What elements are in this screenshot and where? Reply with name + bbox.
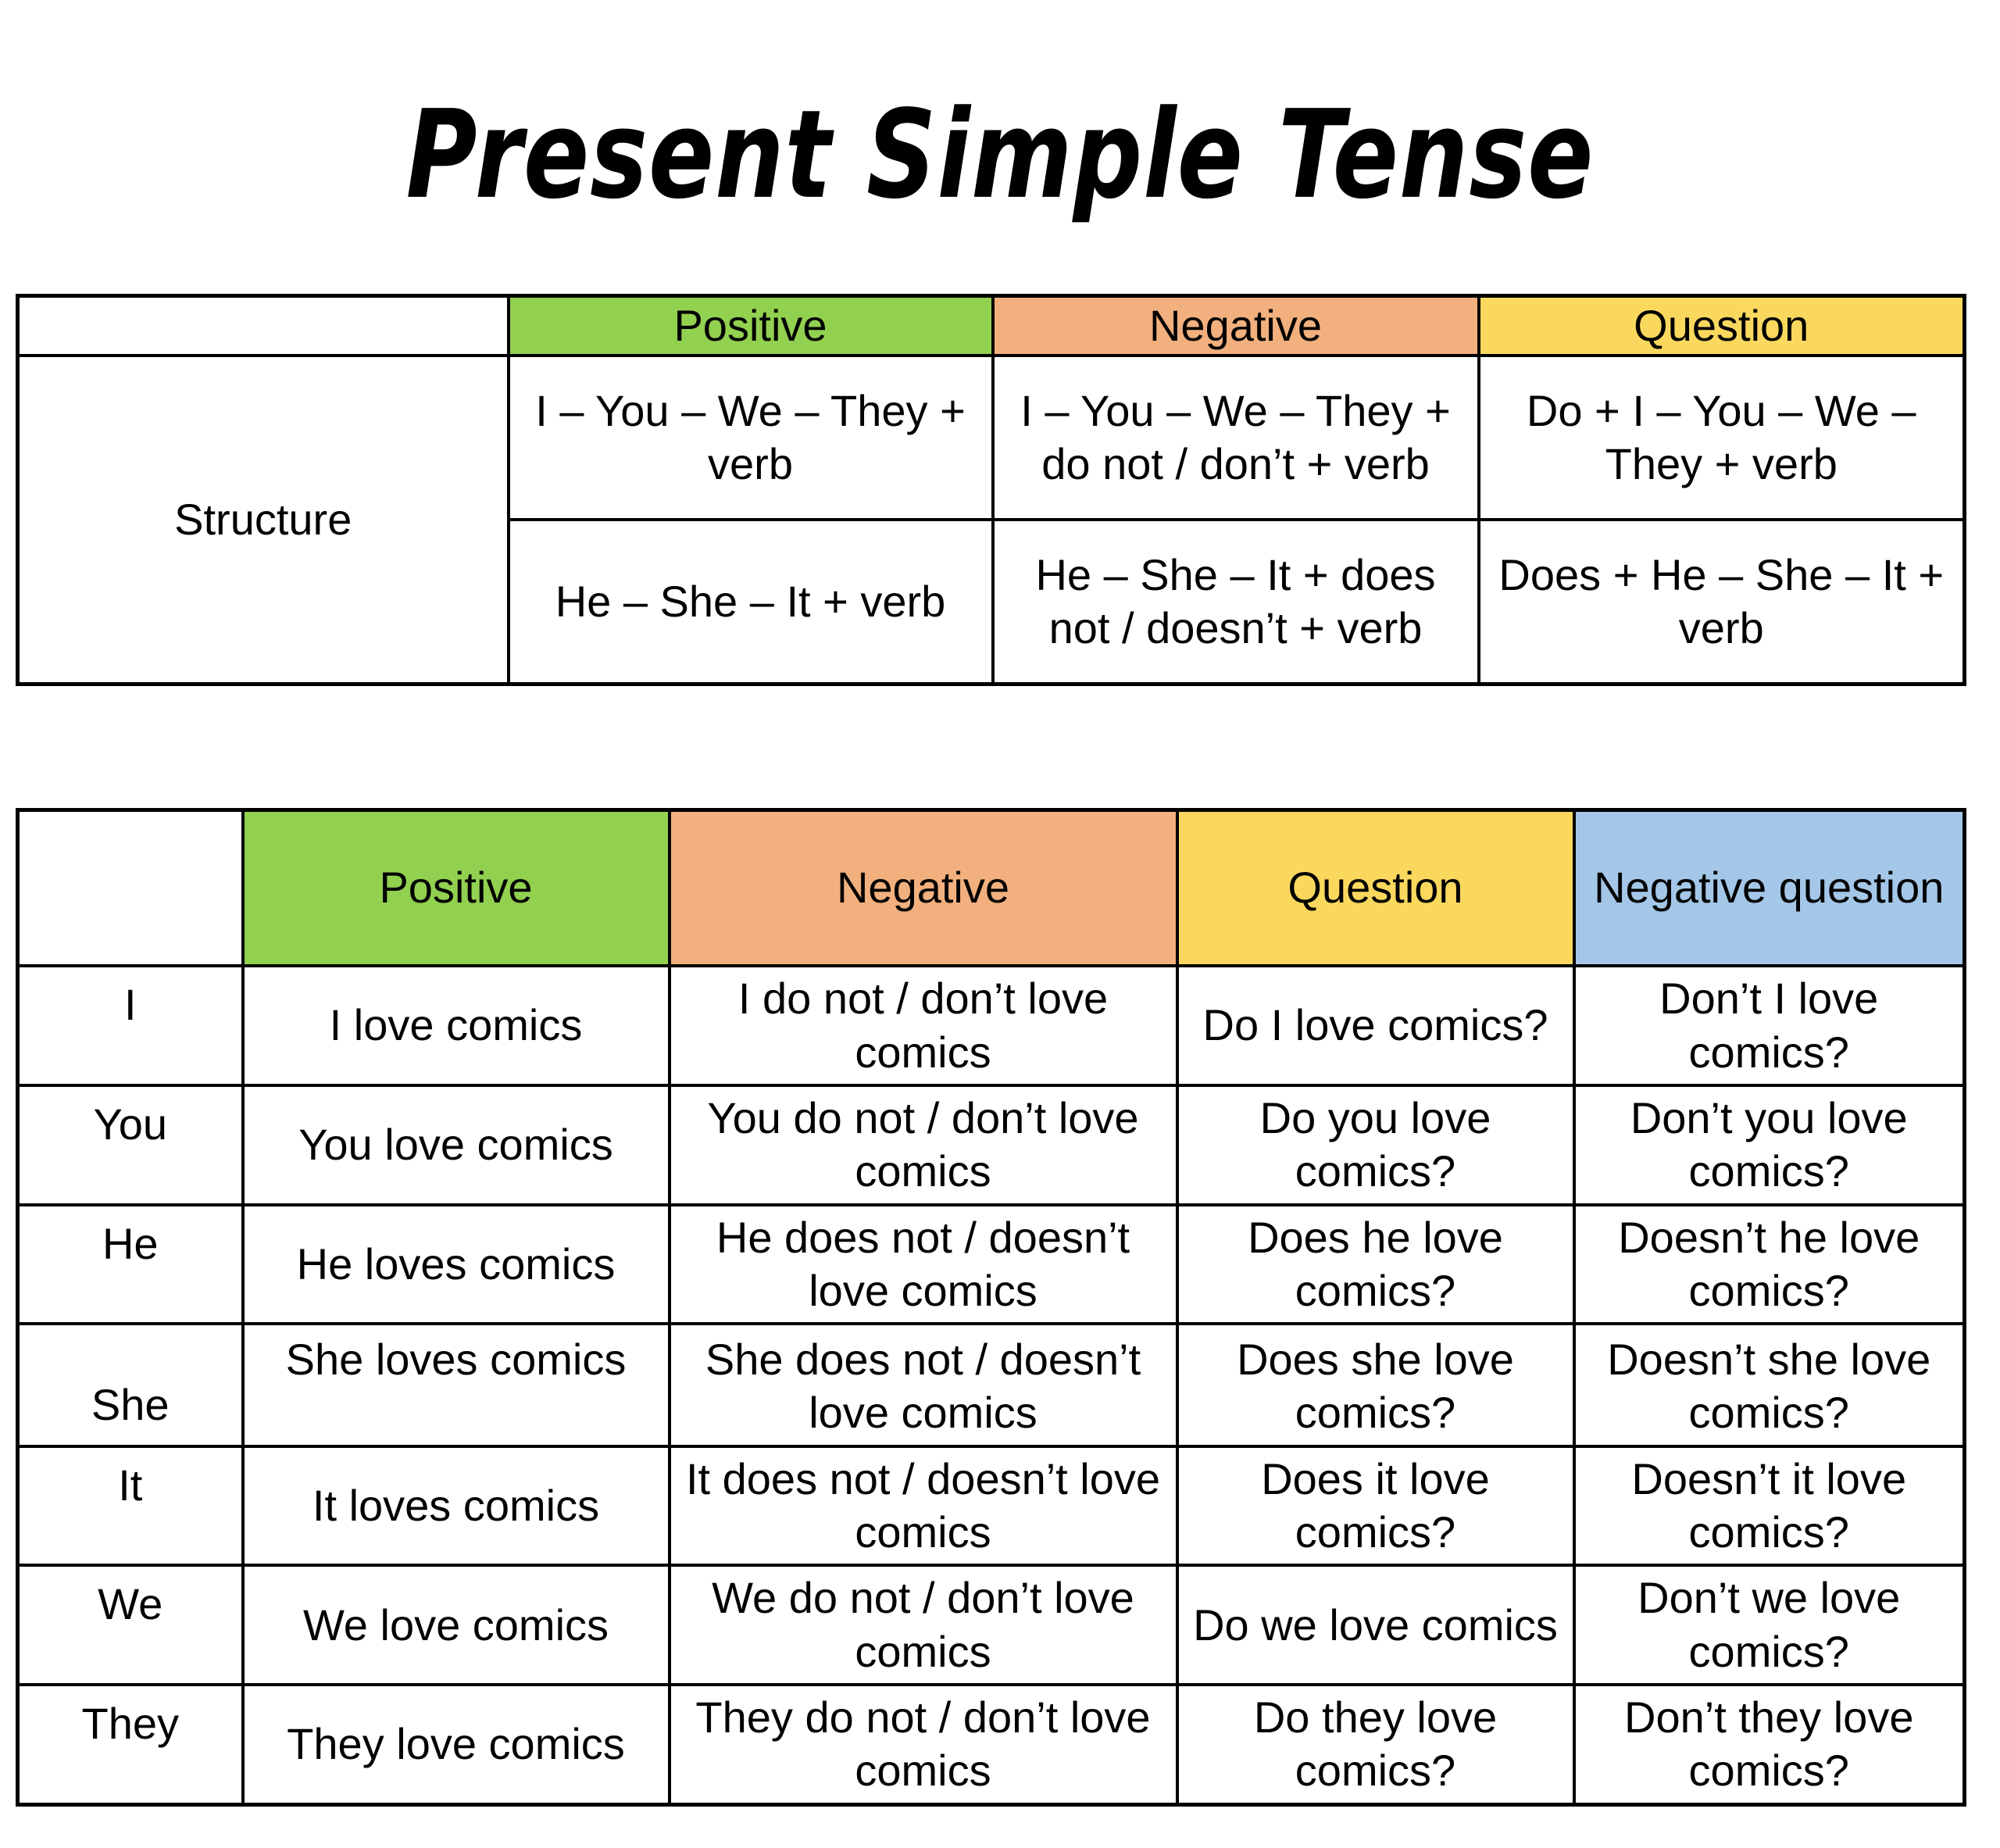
structure-header-blank (18, 295, 509, 356)
conjugation-question-you: Do you love comics? (1177, 1085, 1574, 1205)
conjugation-negative-we: We do not / don’t love comics (670, 1565, 1177, 1685)
conjugation-header-question: Question (1177, 810, 1574, 966)
conjugation-table-wrapper: Positive Negative Question Negative ques… (16, 808, 1966, 1807)
structure-header-negative: Negative (993, 295, 1479, 356)
conjugation-positive-he: He loves comics (243, 1205, 670, 1324)
structure-row-label: Structure (18, 356, 509, 684)
page-title: Present Simple Tense (30, 67, 1970, 230)
conjugation-negative-question-you: Don’t you love comics? (1574, 1085, 1965, 1205)
table-row: She She loves comics She does not / does… (18, 1324, 1965, 1446)
conjugation-header-row: Positive Negative Question Negative ques… (18, 810, 1965, 966)
structure-header-row: Positive Negative Question (18, 295, 1965, 356)
conjugation-header-blank (18, 810, 243, 966)
conjugation-question-they: Do they love comics? (1177, 1685, 1574, 1804)
conjugation-negative-she: She does not / doesn’t love comics (670, 1324, 1177, 1446)
conjugation-pronoun-we: We (18, 1565, 243, 1685)
conjugation-question-it: Does it love comics? (1177, 1446, 1574, 1566)
conjugation-negative-question-they: Don’t they love comics? (1574, 1685, 1965, 1804)
conjugation-pronoun-they: They (18, 1685, 243, 1804)
conjugation-negative-i: I do not / don’t love comics (670, 966, 1177, 1085)
structure-table-wrapper: Positive Negative Question Structure I –… (16, 294, 1966, 686)
table-row: You You love comics You do not / don’t l… (18, 1085, 1965, 1205)
worksheet-page: Present Simple Tense Positive Negative Q… (0, 67, 2000, 1848)
table-row: They They love comics They do not / don’… (18, 1685, 1965, 1804)
conjugation-pronoun-it: It (18, 1446, 243, 1566)
conjugation-pronoun-she: She (18, 1324, 243, 1446)
conjugation-negative-it: It does not / doesn’t love comics (670, 1446, 1177, 1566)
conjugation-header-negative-question: Negative question (1574, 810, 1965, 966)
conjugation-negative-question-he: Doesn’t he love comics? (1574, 1205, 1965, 1324)
structure-singular-positive: He – She – It + verb (509, 520, 993, 684)
conjugation-question-she: Does she love comics? (1177, 1324, 1574, 1446)
structure-singular-question: Does + He – She – It + verb (1479, 520, 1965, 684)
conjugation-negative-you: You do not / don’t love comics (670, 1085, 1177, 1205)
conjugation-pronoun-i: I (18, 966, 243, 1085)
conjugation-table: Positive Negative Question Negative ques… (16, 808, 1966, 1807)
conjugation-positive-i: I love comics (243, 966, 670, 1085)
table-row: We We love comics We do not / don’t love… (18, 1565, 1965, 1685)
conjugation-positive-she: She loves comics (243, 1324, 670, 1446)
conjugation-positive-it: It loves comics (243, 1446, 670, 1566)
conjugation-question-we: Do we love comics (1177, 1565, 1574, 1685)
conjugation-negative-he: He does not / doesn’t love comics (670, 1205, 1177, 1324)
structure-table: Positive Negative Question Structure I –… (16, 294, 1966, 686)
conjugation-negative-question-it: Doesn’t it love comics? (1574, 1446, 1965, 1566)
conjugation-positive-you: You love comics (243, 1085, 670, 1205)
structure-row-plural: Structure I – You – We – They + verb I –… (18, 356, 1965, 520)
structure-singular-negative: He – She – It + does not / doesn’t + ver… (993, 520, 1479, 684)
table-row: It It loves comics It does not / doesn’t… (18, 1446, 1965, 1566)
conjugation-pronoun-you: You (18, 1085, 243, 1205)
conjugation-negative-question-she: Doesn’t she love comics? (1574, 1324, 1965, 1446)
structure-plural-positive: I – You – We – They + verb (509, 356, 993, 520)
structure-header-question: Question (1479, 295, 1965, 356)
conjugation-header-negative: Negative (670, 810, 1177, 966)
table-row: I I love comics I do not / don’t love co… (18, 966, 1965, 1085)
conjugation-question-i: Do I love comics? (1177, 966, 1574, 1085)
table-row: He He loves comics He does not / doesn’t… (18, 1205, 1965, 1324)
structure-plural-negative: I – You – We – They + do not / don’t + v… (993, 356, 1479, 520)
conjugation-positive-we: We love comics (243, 1565, 670, 1685)
conjugation-header-positive: Positive (243, 810, 670, 966)
conjugation-negative-question-i: Don’t I love comics? (1574, 966, 1965, 1085)
conjugation-positive-they: They love comics (243, 1685, 670, 1804)
conjugation-pronoun-he: He (18, 1205, 243, 1324)
conjugation-negative-question-we: Don’t we love comics? (1574, 1565, 1965, 1685)
conjugation-negative-they: They do not / don’t love comics (670, 1685, 1177, 1804)
structure-plural-question: Do + I – You – We – They + verb (1479, 356, 1965, 520)
structure-header-positive: Positive (509, 295, 993, 356)
conjugation-question-he: Does he love comics? (1177, 1205, 1574, 1324)
